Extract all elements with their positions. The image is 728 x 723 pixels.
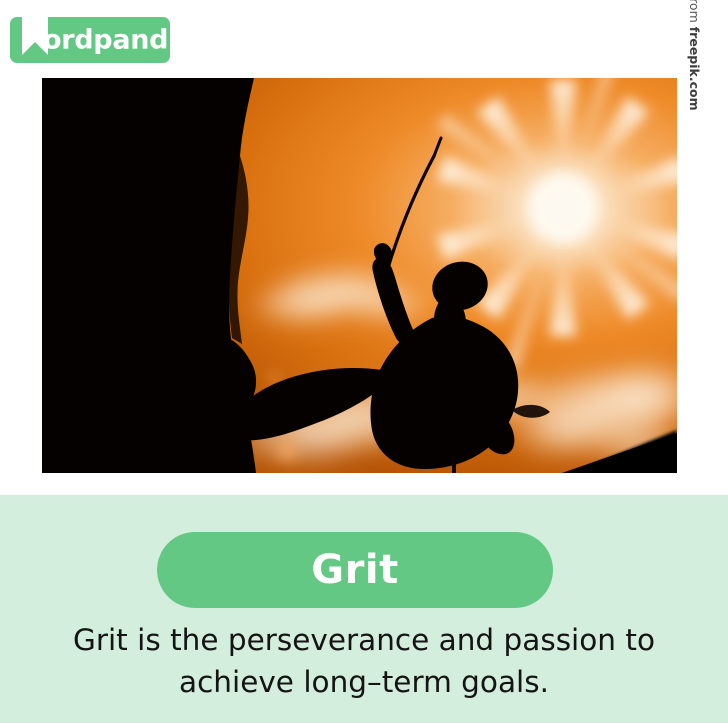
image-credit-source: freepik.com — [687, 27, 702, 111]
wordpandit-logo[interactable]: ordpandit — [10, 17, 170, 63]
hero-image-container — [42, 78, 677, 473]
wordpandit-logo-text: ordpandit — [43, 27, 170, 54]
page-header: ordpandit — [0, 0, 728, 78]
image-credit-prefix: Image licensed from — [687, 0, 702, 27]
image-credit: Image licensed from freepik.com — [683, 0, 705, 175]
word-panel: Grit Grit is the perseverance and passio… — [0, 495, 728, 723]
word-title-button[interactable]: Grit — [157, 532, 553, 608]
climber-sunset-image — [42, 78, 677, 473]
word-card-page: ordpandit — [0, 0, 728, 723]
word-definition: Grit is the perseverance and passion to … — [14, 619, 714, 703]
